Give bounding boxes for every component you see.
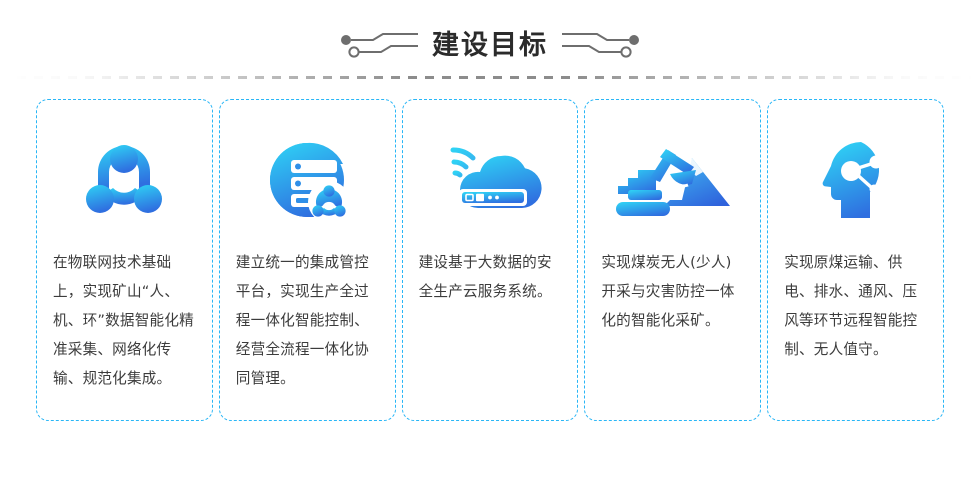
goal-card-text: 建设基于大数据的安全生产云服务系统。 (419, 248, 562, 306)
circuit-line-left-icon (340, 31, 418, 61)
goal-card[interactable]: 建设基于大数据的安全生产云服务系统。 (402, 99, 579, 421)
title-row: 建设目标 (340, 26, 640, 66)
page-header: 建设目标 (0, 0, 980, 90)
header-separator (0, 76, 980, 79)
goal-card-text: 实现原煤运输、供电、排水、通风、压风等环节远程智能控制、无人值守。 (784, 248, 927, 364)
goal-card[interactable]: 实现煤炭无人(少人)开采与灾害防控一体化的智能化采矿。 (584, 99, 761, 421)
network-share-icon (74, 130, 174, 230)
goal-card-list: 在物联网技术基础上，实现矿山“人、机、环”数据智能化精准采集、网络化传输、规范化… (36, 99, 944, 421)
goal-card[interactable]: 实现原煤运输、供电、排水、通风、压风等环节远程智能控制、无人值守。 (767, 99, 944, 421)
cloud-wifi-server-icon (435, 130, 545, 230)
excavator-mountain-icon (608, 130, 738, 230)
card-icon-slot (435, 118, 545, 242)
circuit-line-right-icon (562, 31, 640, 61)
card-icon-slot (257, 118, 357, 242)
card-icon-slot (608, 118, 738, 242)
card-icon-slot (806, 118, 906, 242)
page-title: 建设目标 (432, 29, 548, 63)
goal-card-text: 实现煤炭无人(少人)开采与灾害防控一体化的智能化采矿。 (601, 248, 744, 335)
goal-card[interactable]: 建立统一的集成管控平台，实现生产全过程一体化智能控制、经营全流程一体化协同管理。 (219, 99, 396, 421)
server-share-icon (257, 130, 357, 230)
card-icon-slot (74, 118, 174, 242)
goal-card-text: 建立统一的集成管控平台，实现生产全过程一体化智能控制、经营全流程一体化协同管理。 (236, 248, 379, 393)
goal-card[interactable]: 在物联网技术基础上，实现矿山“人、机、环”数据智能化精准采集、网络化传输、规范化… (36, 99, 213, 421)
goal-card-text: 在物联网技术基础上，实现矿山“人、机、环”数据智能化精准采集、网络化传输、规范化… (53, 248, 196, 393)
head-ai-network-icon (806, 130, 906, 230)
